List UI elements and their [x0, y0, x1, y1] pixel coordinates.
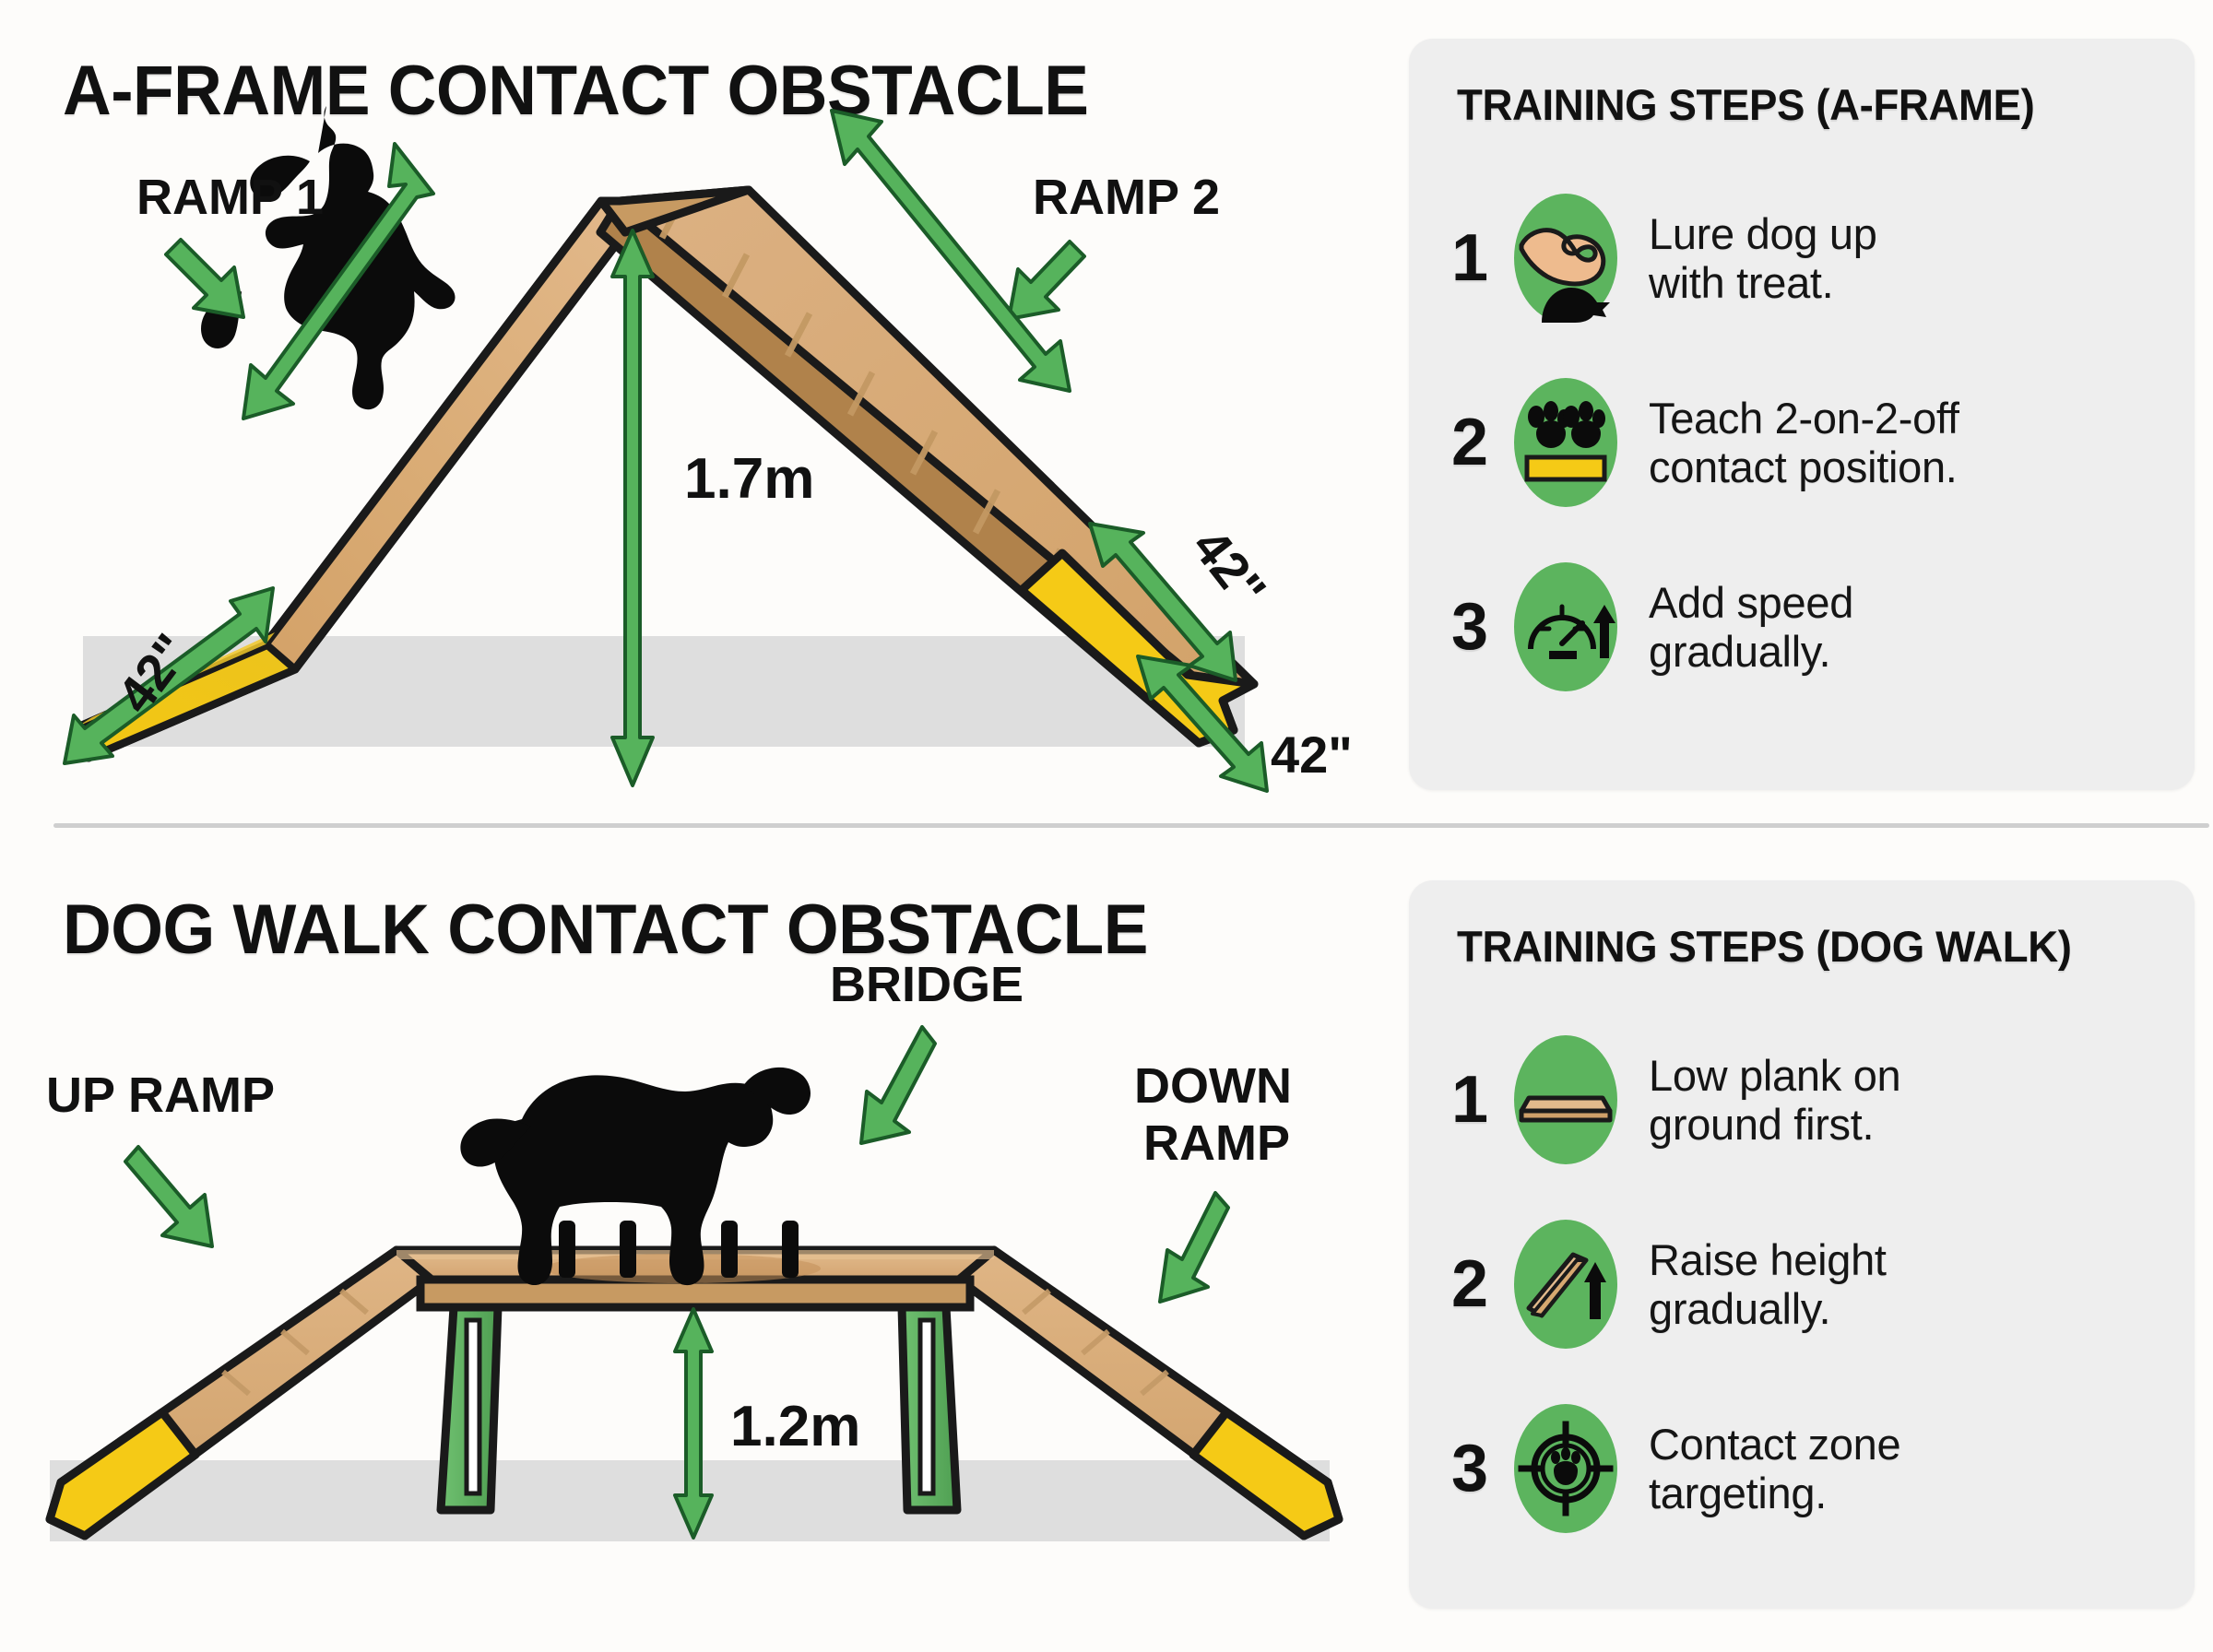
step-item[interactable]: 2 — [1409, 350, 2195, 535]
panel-title-aframe: TRAINING STEPS (A-FRAME) — [1457, 79, 2034, 130]
height-arrow-1-2m — [675, 1309, 712, 1538]
step-text: Contact zone targeting. — [1649, 1420, 1900, 1517]
ramp-2-label: RAMP 2 — [1033, 170, 1220, 225]
height-label-1-7m: 1.7m — [684, 447, 814, 511]
paws-contact-zone-icon — [1509, 372, 1623, 513]
height-label-1-2m: 1.2m — [730, 1395, 860, 1458]
bridge-pointer-arrow — [861, 1027, 935, 1143]
infographic-board: A-FRAME CONTACT OBSTACLE — [0, 0, 2213, 1652]
flat-plank-icon — [1509, 1030, 1623, 1170]
step-text-line1: Lure dog up — [1649, 209, 1877, 258]
up-ramp-label: UP RAMP — [46, 1068, 275, 1123]
step-text: Add speed gradually. — [1649, 578, 1853, 676]
ramp-1-pointer-arrow — [166, 240, 243, 317]
step-item[interactable]: 3 — [1409, 535, 2195, 719]
tilted-plank-up-arrow-icon — [1509, 1214, 1623, 1354]
down-ramp-label-line1: DOWN — [1134, 1058, 1292, 1114]
bridge-label: BRIDGE — [830, 957, 1024, 1012]
contact-measure-right-lower-label: 42" — [1271, 726, 1353, 784]
a-frame-diagram: 1.7m RAMP 1 RAMP 2 42" — [0, 0, 1402, 826]
paw-crosshair-target-icon — [1509, 1398, 1623, 1539]
step-text: Low plank on ground first. — [1649, 1051, 1900, 1149]
step-text-line1: Raise height — [1649, 1235, 1887, 1284]
step-text-line1: Teach 2-on-2-off — [1649, 394, 1959, 442]
step-text-line1: Contact zone — [1649, 1420, 1900, 1469]
step-text-line1: Add speed — [1649, 578, 1853, 627]
step-text-line2: targeting. — [1649, 1469, 1900, 1517]
step-text-line2: ground first. — [1649, 1100, 1900, 1149]
step-text: Raise height gradually. — [1649, 1235, 1887, 1333]
up-ramp-pointer-arrow — [125, 1147, 212, 1246]
training-steps-panel-dogwalk: TRAINING STEPS (DOG WALK) 1 Low plank on… — [1409, 880, 2195, 1609]
steps-list-aframe: 1 Lure dog up with treat. 2 — [1409, 166, 2195, 719]
steps-list-dogwalk: 1 Low plank on ground first. 2 — [1409, 1008, 2195, 1561]
step-number: 2 — [1451, 409, 1509, 476]
step-item[interactable]: 1 Lure dog up with treat. — [1409, 166, 2195, 350]
step-item[interactable]: 1 Low plank on ground first. — [1409, 1008, 2195, 1192]
step-number: 2 — [1451, 1251, 1509, 1317]
dog-silhouette-climbing — [201, 106, 456, 409]
training-steps-panel-aframe: TRAINING STEPS (A-FRAME) 1 Lure dog up w… — [1409, 39, 2195, 790]
step-item[interactable]: 2 Raise height gradually. — [1409, 1192, 2195, 1376]
step-text-line2: gradually. — [1649, 1284, 1887, 1333]
hand-treat-dog-icon — [1509, 188, 1623, 328]
contact-measure-right-upper-label: 42" — [1181, 518, 1277, 619]
speedometer-up-arrow-icon — [1509, 557, 1623, 697]
panel-title-dogwalk: TRAINING STEPS (DOG WALK) — [1457, 921, 2072, 972]
step-text: Lure dog up with treat. — [1649, 209, 1877, 307]
dog-walk-section: DOG WALK CONTACT OBSTACLE — [0, 826, 2213, 1652]
ramp-1-label: RAMP 1 — [136, 170, 324, 225]
step-number: 3 — [1451, 1435, 1509, 1502]
step-number: 1 — [1451, 225, 1509, 291]
ramp-2-pointer-arrow — [1009, 242, 1084, 319]
down-ramp-pointer-arrow — [1160, 1193, 1228, 1302]
step-text: Teach 2-on-2-off contact position. — [1649, 394, 1959, 491]
step-text-line2: with treat. — [1649, 258, 1877, 307]
step-number: 3 — [1451, 594, 1509, 660]
step-number: 1 — [1451, 1067, 1509, 1133]
step-item[interactable]: 3 — [1409, 1376, 2195, 1561]
a-frame-section: A-FRAME CONTACT OBSTACLE — [0, 0, 2213, 826]
step-text-line2: contact position. — [1649, 442, 1959, 491]
step-text-line2: gradually. — [1649, 627, 1853, 676]
step-text-line1: Low plank on — [1649, 1051, 1900, 1100]
down-ramp-label-line2: RAMP — [1143, 1115, 1290, 1171]
dog-walk-diagram: UP RAMP BRIDGE DOWN RAMP 1.2m — [0, 826, 1402, 1652]
